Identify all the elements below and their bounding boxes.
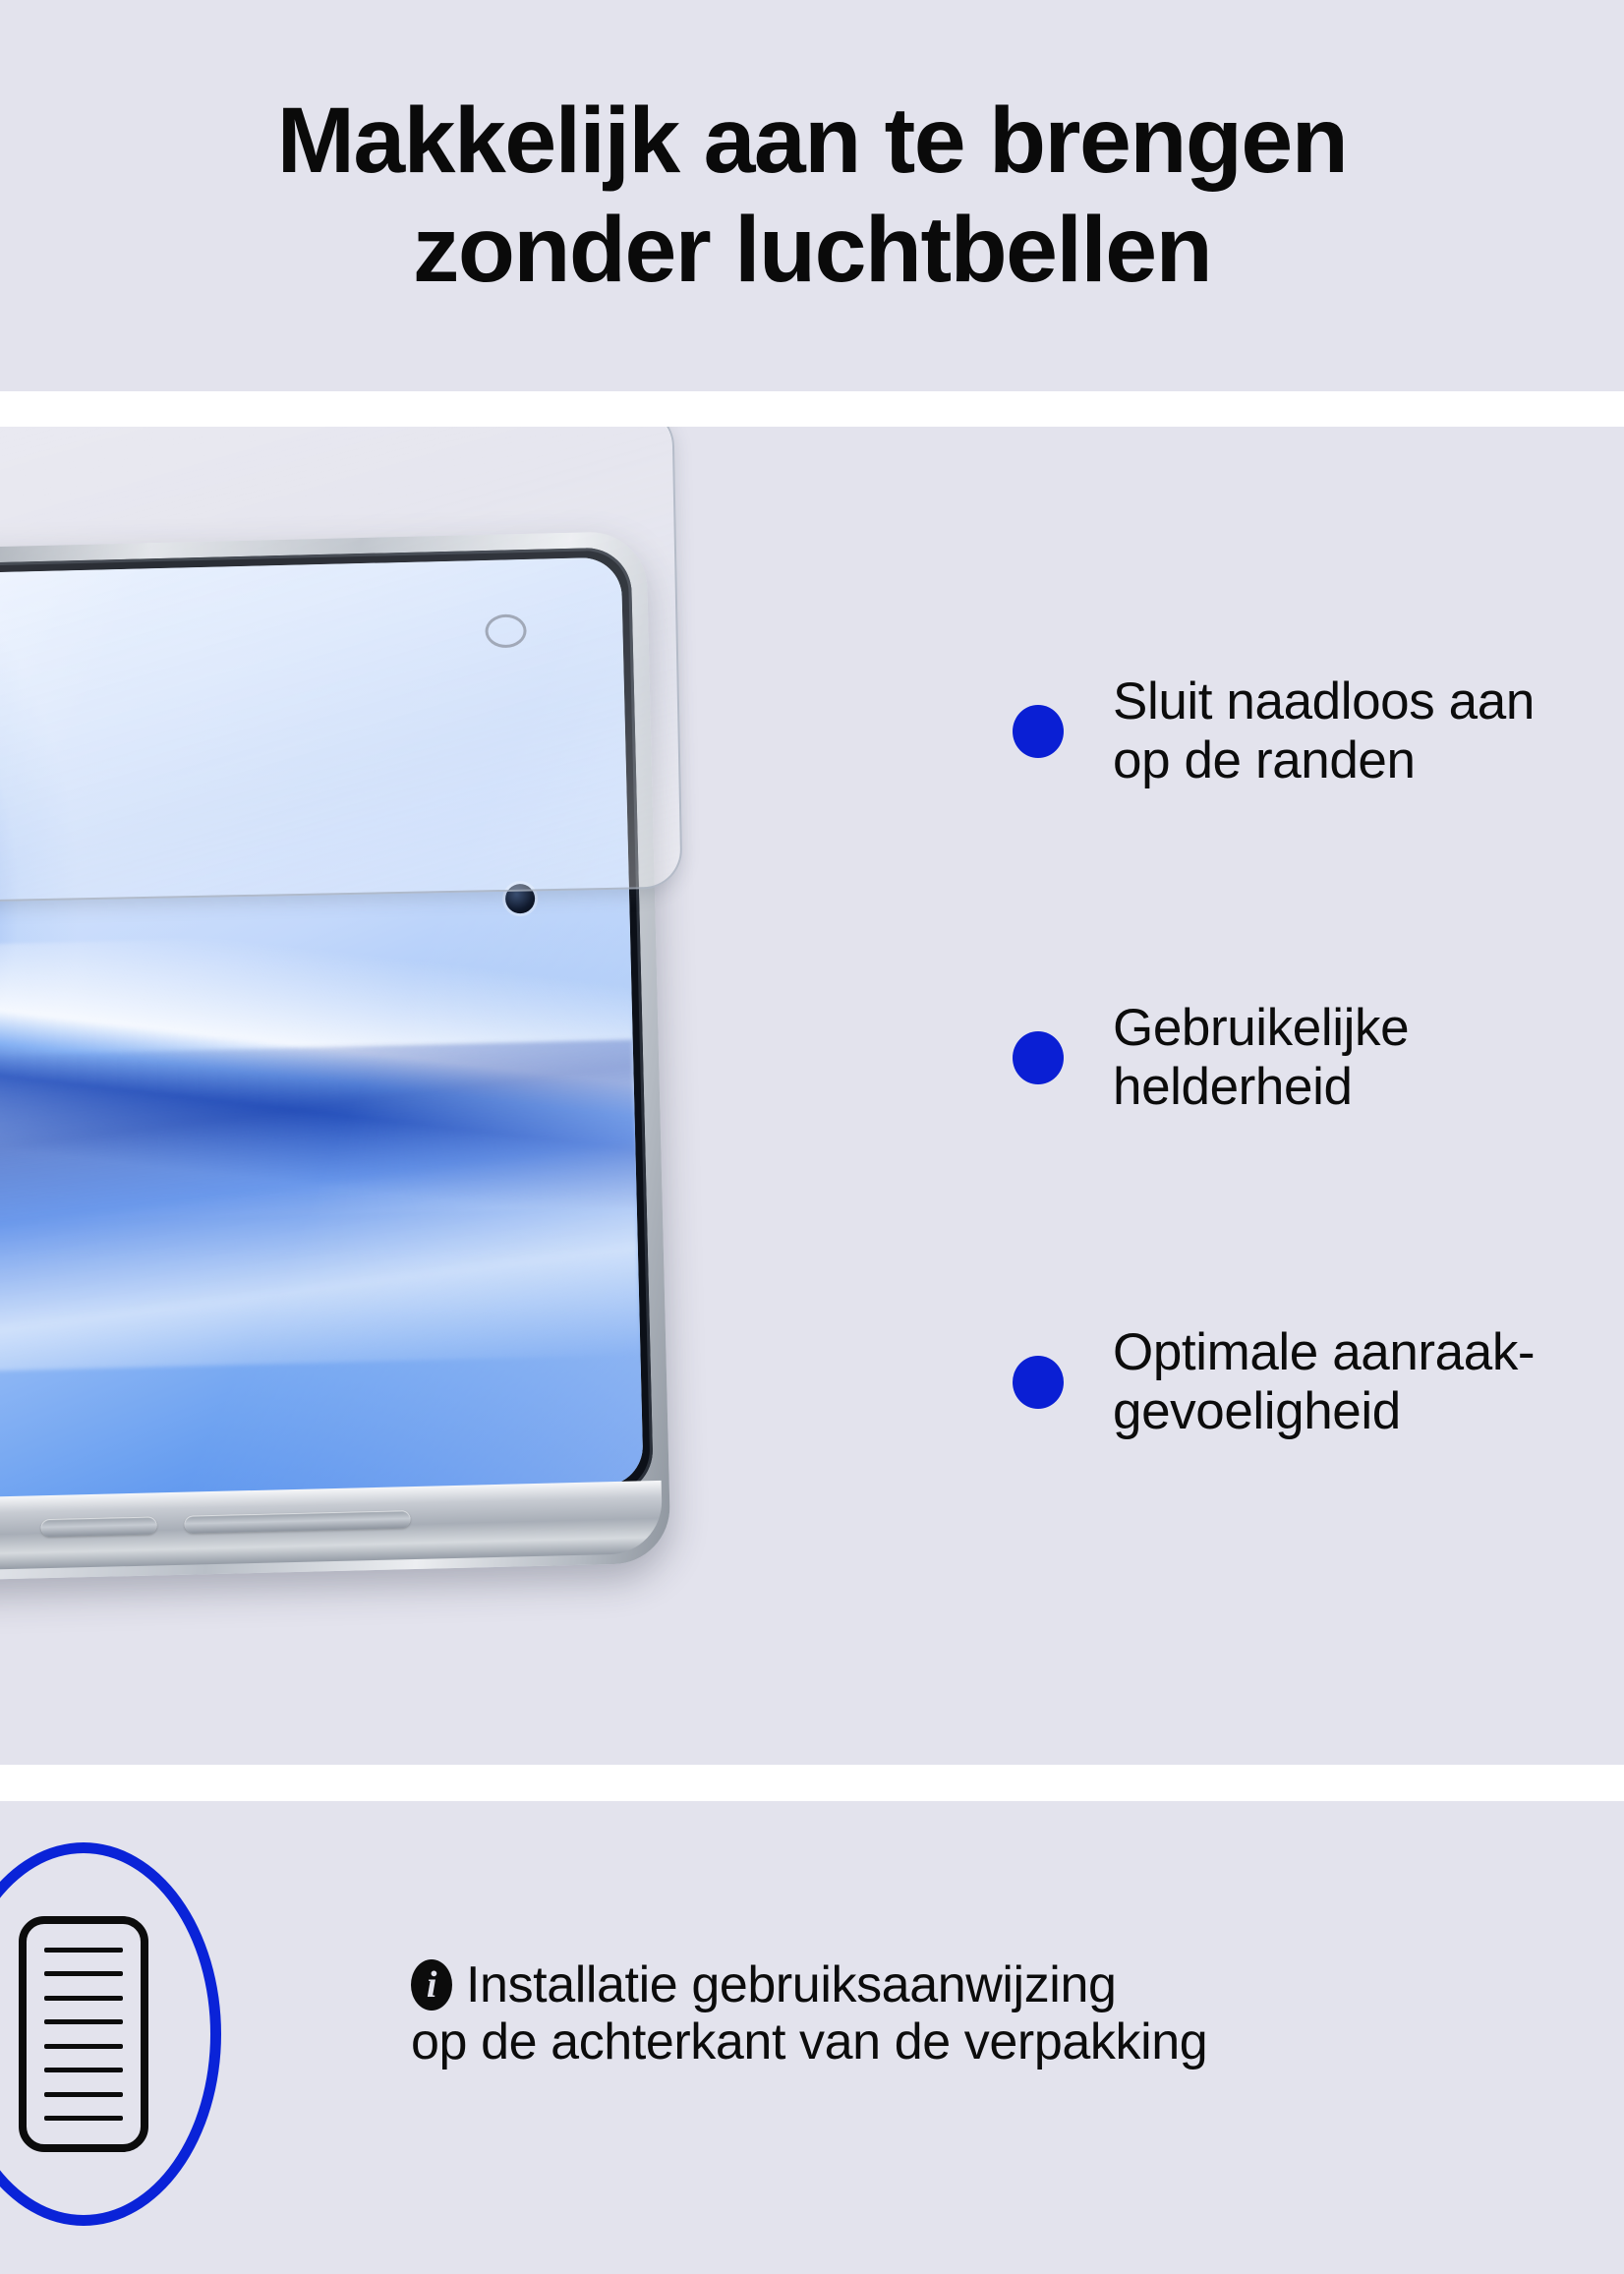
glass-edge-highlight — [0, 427, 671, 434]
document-line — [44, 2068, 123, 2072]
footer-note-line-1-row: i Installatie gebruiksaanwijzing — [411, 1956, 1624, 2013]
document-line — [44, 2044, 123, 2049]
feature-line-2: op de randen — [1113, 731, 1416, 789]
instruction-manual-badge — [0, 1842, 221, 2226]
footer-note-line-2: op de achterkant van de verpakking — [411, 2013, 1624, 2070]
feature-text: Sluit naadloos aan op de randen — [1113, 672, 1535, 790]
info-icon: i — [411, 1959, 452, 2011]
camera-cutout-icon — [485, 614, 527, 649]
side-button-large — [184, 1510, 410, 1534]
feature-line-2: gevoeligheid — [1113, 1382, 1401, 1440]
screen-protector-glass — [0, 427, 683, 908]
page-title-line-2: zonder luchtbellen — [413, 204, 1211, 297]
page-title-line-1: Makkelijk aan te brengen — [277, 94, 1348, 188]
document-icon — [19, 1916, 148, 2152]
document-line — [44, 2019, 123, 2024]
document-line — [44, 1948, 123, 1953]
list-item: Gebruikelijke helderheid — [1013, 999, 1624, 1117]
side-button-small — [40, 1516, 156, 1537]
product-photo — [0, 427, 983, 1765]
bullet-dot-icon — [1013, 1031, 1064, 1084]
document-line — [44, 2092, 123, 2097]
feature-list: Sluit naadloos aan op de randen Gebruike… — [1013, 427, 1624, 1765]
list-item: Optimale aanraak- gevoeligheid — [1013, 1323, 1624, 1441]
feature-line-1: Sluit naadloos aan — [1113, 672, 1535, 730]
footer-note: i Installatie gebruiksaanwijzing op de a… — [411, 1956, 1624, 2070]
footer-note-line-1: Installatie gebruiksaanwijzing — [466, 1956, 1117, 2013]
document-line — [44, 2116, 123, 2121]
footer-section: i Installatie gebruiksaanwijzing op de a… — [0, 1801, 1624, 2274]
list-item: Sluit naadloos aan op de randen — [1013, 672, 1624, 790]
page-title: Makkelijk aan te brengen zonder luchtbel… — [0, 0, 1624, 391]
document-line — [44, 1996, 123, 2001]
bullet-dot-icon — [1013, 1356, 1064, 1409]
feature-line-1: Optimale aanraak- — [1113, 1323, 1535, 1381]
feature-line-2: helderheid — [1113, 1058, 1353, 1116]
feature-text: Optimale aanraak- gevoeligheid — [1113, 1323, 1535, 1441]
feature-line-1: Gebruikelijke — [1113, 999, 1409, 1057]
feature-text: Gebruikelijke helderheid — [1113, 999, 1409, 1117]
document-line — [44, 1971, 123, 1976]
bullet-dot-icon — [1013, 705, 1064, 758]
product-feature-panel: Makkelijk aan te brengen zonder luchtbel… — [0, 0, 1624, 2274]
